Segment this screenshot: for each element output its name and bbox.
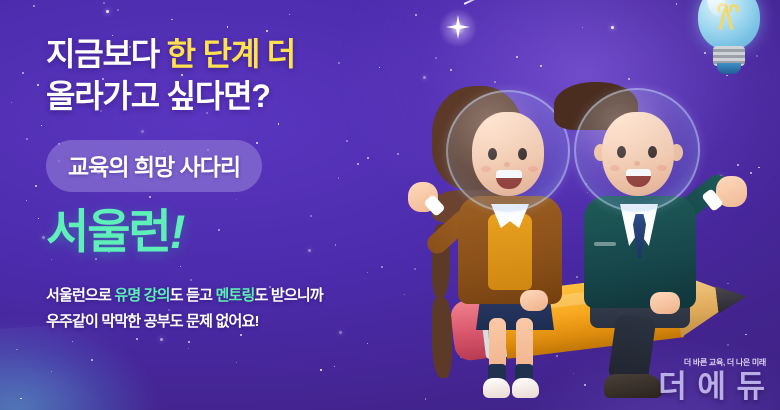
sub-copy-l1-b: 도 듣고: [170, 287, 216, 304]
star-dot: [266, 30, 268, 32]
star-dot: [20, 398, 21, 399]
star-dot: [494, 81, 496, 83]
brand-name: 서울런: [46, 205, 170, 258]
star-dot: [582, 27, 583, 28]
light-bulb-icon: [688, 0, 772, 76]
star-dot: [22, 72, 24, 74]
star-dot: [573, 373, 574, 374]
star-dot: [188, 341, 190, 343]
tagline-pill-badge: 교육의 희망 사다리: [46, 140, 262, 192]
light-bulb-filament-loop-2: [729, 4, 739, 14]
girl-leg-left: [489, 318, 506, 370]
student-astronaut-illustration: [424, 86, 754, 316]
girl-resting-hand: [520, 290, 548, 311]
star-dot: [160, 338, 163, 341]
sub-copy: 서울런으로 유명 강의도 듣고 멘토링도 받으니까 우주같이 막막한 공부도 문…: [46, 283, 466, 335]
star-dot: [26, 138, 28, 140]
star-dot: [41, 125, 42, 126]
sub-copy-mint-mentoring: 멘토링: [216, 287, 255, 304]
sub-copy-line2: 우주같이 막막한 공부도 문제 없어요!: [46, 309, 466, 335]
brand-title: 서울런!: [46, 208, 466, 255]
girl-shoe-left: [483, 378, 510, 398]
star-dot: [367, 343, 368, 344]
star-dot: [11, 102, 12, 103]
banner-copy-block: 지금보다 한 단계 더 올라가고 싶다면? 교육의 희망 사다리 서울런! 서울…: [46, 34, 466, 335]
sub-copy-l1-a: 서울런으로: [46, 287, 114, 304]
star-dot: [227, 26, 228, 27]
star-dot: [16, 349, 17, 350]
girl-shoe-right: [512, 378, 539, 398]
boy-student-astronaut: [554, 82, 724, 318]
star-dot: [516, 56, 518, 58]
star-dot: [758, 167, 759, 168]
star-dot: [628, 78, 630, 80]
star-dot: [540, 65, 541, 66]
headline-highlight: 한 단계 더: [167, 36, 295, 72]
sub-copy-line1: 서울런으로 유명 강의도 듣고 멘토링도 받으니까: [46, 283, 466, 309]
boy-resting-hand: [650, 292, 680, 314]
brand-exclamation: !: [170, 205, 184, 258]
star-dot: [320, 369, 322, 371]
headline: 지금보다 한 단계 더 올라가고 싶다면?: [46, 34, 466, 117]
star-dot: [51, 371, 52, 372]
light-bulb-tip: [717, 63, 741, 74]
logo-name: 더 에 듀: [658, 371, 766, 402]
boy-space-helmet: [574, 88, 700, 212]
star-dot: [171, 19, 172, 20]
star-dot: [26, 200, 27, 201]
star-dot: [676, 3, 677, 4]
star-dot: [37, 84, 38, 85]
seoul-learn-promo-banner: 지금보다 한 단계 더 올라가고 싶다면? 교육의 희망 사다리 서울런! 서울…: [0, 0, 780, 410]
star-dot: [727, 344, 728, 345]
star-dot: [38, 218, 39, 219]
star-dot: [425, 398, 426, 399]
star-dot: [136, 338, 138, 340]
star-dot: [33, 5, 35, 7]
star-dot: [415, 14, 417, 16]
boy-blazer-pocket: [594, 242, 616, 246]
star-dot: [334, 366, 335, 367]
star-dot: [42, 236, 45, 239]
logo-tagline: 더 바른 교육, 더 나은 미래: [658, 357, 766, 368]
star-dot: [103, 2, 105, 4]
star-dot: [72, 341, 73, 342]
sub-copy-l1-c: 도 받으니까: [255, 287, 323, 304]
star-dot: [236, 362, 237, 363]
star-dot: [117, 9, 119, 11]
star-dot: [91, 359, 93, 361]
star-dot: [188, 348, 189, 349]
boy-shoe: [604, 374, 662, 398]
girl-leg-right: [516, 318, 533, 370]
girl-vest: [488, 214, 532, 290]
star-dot: [289, 14, 290, 15]
headline-line1-prefix: 지금보다: [46, 36, 167, 72]
publisher-logo[interactable]: 더 바른 교육, 더 나은 미래 더 에 듀: [658, 357, 766, 402]
star-dot: [35, 185, 37, 187]
star-dot: [611, 26, 614, 29]
star-dot: [584, 384, 586, 386]
sub-copy-mint-lectures: 유명 강의: [114, 287, 169, 304]
star-dot: [106, 10, 109, 13]
headline-line2: 올라가고 싶다면?: [46, 76, 466, 118]
